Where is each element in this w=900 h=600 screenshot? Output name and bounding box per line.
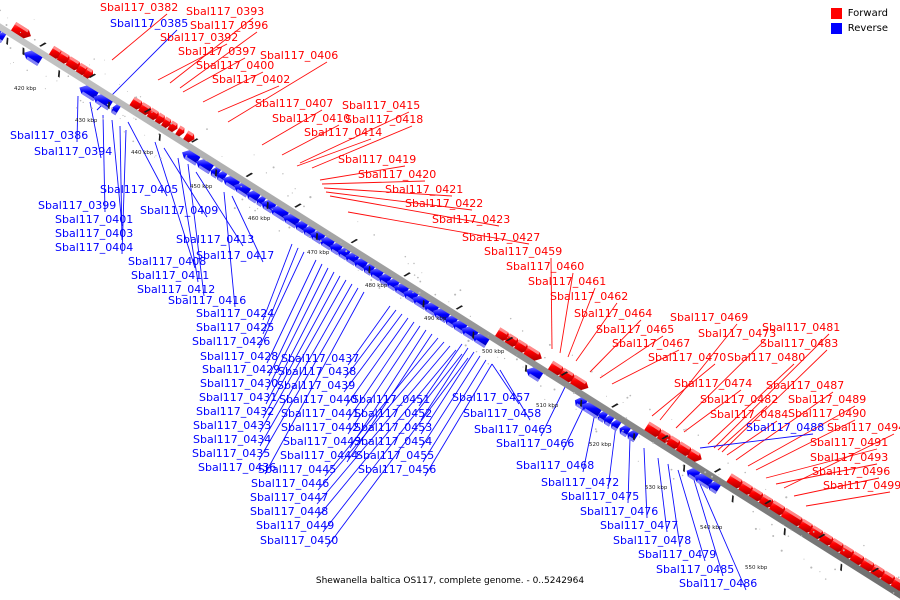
gene-label-sbal117_0493[interactable]: Sbal117_0493: [810, 452, 888, 463]
genome-diagram: 420 kbp430 kbp440 kbp450 kbp460 kbp470 k…: [0, 0, 900, 600]
gene-label-sbal117_0489[interactable]: Sbal117_0489: [788, 394, 866, 405]
axis-tick-0: 420 kbp: [14, 86, 36, 92]
gene-label-sbal117_0437[interactable]: Sbal117_0437: [281, 353, 359, 364]
gene-label-sbal117_0466[interactable]: Sbal117_0466: [496, 438, 574, 449]
legend-forward-swatch-icon: [831, 8, 842, 19]
gene-label-sbal117_0487[interactable]: Sbal117_0487: [766, 380, 844, 391]
legend-reverse: Reverse: [831, 23, 888, 34]
gene-label-sbal117_0402[interactable]: Sbal117_0402: [212, 74, 290, 85]
gene-label-sbal117_0499[interactable]: Sbal117_0499: [823, 480, 900, 491]
gene-label-sbal117_0401[interactable]: Sbal117_0401: [55, 214, 133, 225]
axis-tick-13: 550 kbp: [745, 565, 767, 571]
gene-label-sbal117_0435[interactable]: Sbal117_0435: [192, 448, 270, 459]
axis-tick-10: 520 kbp: [589, 442, 611, 448]
gene-label-sbal117_0453[interactable]: Sbal117_0453: [354, 422, 432, 433]
gene-label-sbal117_0485[interactable]: Sbal117_0485: [656, 564, 734, 575]
axis-tick-8: 500 kbp: [482, 349, 504, 355]
gene-label-sbal117_0408[interactable]: Sbal117_0408: [128, 256, 206, 267]
gene-label-sbal117_0422[interactable]: Sbal117_0422: [405, 198, 483, 209]
gene-label-sbal117_0433[interactable]: Sbal117_0433: [193, 420, 271, 431]
gene-label-sbal117_0458[interactable]: Sbal117_0458: [463, 408, 541, 419]
legend-reverse-label: Reverse: [848, 23, 888, 34]
gene-label-sbal117_0490[interactable]: Sbal117_0490: [788, 408, 866, 419]
gene-label-sbal117_0403[interactable]: Sbal117_0403: [55, 228, 133, 239]
axis-tick-5: 470 kbp: [307, 250, 329, 256]
gene-label-sbal117_0382[interactable]: Sbal117_0382: [100, 2, 178, 13]
gene-label-sbal117_0399[interactable]: Sbal117_0399: [38, 200, 116, 211]
axis-tick-11: 530 kbp: [645, 485, 667, 491]
legend-reverse-swatch-icon: [831, 23, 842, 34]
gene-label-sbal117_0405[interactable]: Sbal117_0405: [100, 184, 178, 195]
gene-label-sbal117_0431[interactable]: Sbal117_0431: [199, 392, 277, 403]
gene-label-sbal117_0449[interactable]: Sbal117_0449: [256, 520, 334, 531]
gene-label-sbal117_0461[interactable]: Sbal117_0461: [528, 276, 606, 287]
gene-label-sbal117_0482[interactable]: Sbal117_0482: [700, 394, 778, 405]
gene-label-sbal117_0418[interactable]: Sbal117_0418: [345, 114, 423, 125]
gene-label-sbal117_0491[interactable]: Sbal117_0491: [810, 437, 888, 448]
gene-label-sbal117_0463[interactable]: Sbal117_0463: [474, 424, 552, 435]
gene-label-sbal117_0446[interactable]: Sbal117_0446: [251, 478, 329, 489]
gene-label-sbal117_0430[interactable]: Sbal117_0430: [200, 378, 278, 389]
gene-label-sbal117_0459[interactable]: Sbal117_0459: [484, 246, 562, 257]
gene-label-sbal117_0467[interactable]: Sbal117_0467: [612, 338, 690, 349]
axis-tick-7: 490 kbp: [424, 316, 446, 322]
gene-label-sbal117_0432[interactable]: Sbal117_0432: [196, 406, 274, 417]
gene-label-sbal117_0481[interactable]: Sbal117_0481: [762, 322, 840, 333]
gene-label-sbal117_0420[interactable]: Sbal117_0420: [358, 169, 436, 180]
gene-label-sbal117_0438[interactable]: Sbal117_0438: [278, 366, 356, 377]
gene-label-sbal117_0385[interactable]: Sbal117_0385: [110, 18, 188, 29]
axis-tick-4: 460 kbp: [248, 216, 270, 222]
gene-label-sbal117_0407[interactable]: Sbal117_0407: [255, 98, 333, 109]
gene-label-sbal117_0444[interactable]: Sbal117_0444: [280, 450, 358, 461]
gene-label-sbal117_0425[interactable]: Sbal117_0425: [196, 322, 274, 333]
gene-label-sbal117_0468[interactable]: Sbal117_0468: [516, 460, 594, 471]
gene-label-sbal117_0427[interactable]: Sbal117_0427: [462, 232, 540, 243]
gene-label-sbal117_0409[interactable]: Sbal117_0409: [140, 205, 218, 216]
axis-tick-2: 440 kbp: [131, 150, 153, 156]
legend-forward-label: Forward: [848, 8, 888, 19]
gene-label-sbal117_0454[interactable]: Sbal117_0454: [354, 436, 432, 447]
gene-label-sbal117_0474[interactable]: Sbal117_0474: [674, 378, 752, 389]
gene-label-sbal117_0448[interactable]: Sbal117_0448: [250, 506, 328, 517]
gene-label-sbal117_0483[interactable]: Sbal117_0483: [760, 338, 838, 349]
gene-label-sbal117_0452[interactable]: Sbal117_0452: [354, 408, 432, 419]
axis-tick-3: 450 kbp: [190, 184, 212, 190]
gene-label-sbal117_0394[interactable]: Sbal117_0394: [34, 146, 112, 157]
gene-label-sbal117_0393[interactable]: Sbal117_0393: [186, 6, 264, 17]
gene-label-sbal117_0450[interactable]: Sbal117_0450: [260, 535, 338, 546]
gene-label-sbal117_0496[interactable]: Sbal117_0496: [812, 466, 890, 477]
gene-label-sbal117_0424[interactable]: Sbal117_0424: [196, 308, 274, 319]
gene-label-sbal117_0440[interactable]: Sbal117_0440: [279, 394, 357, 405]
gene-label-sbal117_0460[interactable]: Sbal117_0460: [506, 261, 584, 272]
gene-label-sbal117_0419[interactable]: Sbal117_0419: [338, 154, 416, 165]
gene-label-sbal117_0423[interactable]: Sbal117_0423: [432, 214, 510, 225]
gene-label-sbal117_0421[interactable]: Sbal117_0421: [385, 184, 463, 195]
gene-label-sbal117_0429[interactable]: Sbal117_0429: [202, 364, 280, 375]
gene-label-sbal117_0475[interactable]: Sbal117_0475: [561, 491, 639, 502]
gene-label-sbal117_0439[interactable]: Sbal117_0439: [277, 380, 355, 391]
gene-label-sbal117_0441[interactable]: Sbal117_0441: [281, 408, 359, 419]
axis-tick-1: 430 kbp: [75, 118, 97, 124]
gene-label-sbal117_0414[interactable]: Sbal117_0414: [304, 127, 382, 138]
gene-label-sbal117_0469[interactable]: Sbal117_0469: [670, 312, 748, 323]
gene-label-sbal117_0386[interactable]: Sbal117_0386: [10, 130, 88, 141]
gene-label-sbal117_0472[interactable]: Sbal117_0472: [541, 477, 619, 488]
gene-label-sbal117_0451[interactable]: Sbal117_0451: [352, 394, 430, 405]
gene-label-sbal117_0392[interactable]: Sbal117_0392: [160, 32, 238, 43]
gene-label-sbal117_0488[interactable]: Sbal117_0488: [746, 422, 824, 433]
gene-label-sbal117_0443[interactable]: Sbal117_0443: [283, 436, 361, 447]
gene-label-sbal117_0478[interactable]: Sbal117_0478: [613, 535, 691, 546]
gene-label-sbal117_0447[interactable]: Sbal117_0447: [250, 492, 328, 503]
gene-label-sbal117_0445[interactable]: Sbal117_0445: [258, 464, 336, 475]
genome-canvas: [0, 0, 900, 600]
gene-label-sbal117_0456[interactable]: Sbal117_0456: [358, 464, 436, 475]
gene-label-sbal117_0494[interactable]: Sbal117_0494: [827, 422, 900, 433]
gene-label-sbal117_0413[interactable]: Sbal117_0413: [176, 234, 254, 245]
gene-label-sbal117_0457[interactable]: Sbal117_0457: [452, 392, 530, 403]
gene-label-sbal117_0404[interactable]: Sbal117_0404: [55, 242, 133, 253]
gene-label-sbal117_0415[interactable]: Sbal117_0415: [342, 100, 420, 111]
gene-label-sbal117_0464[interactable]: Sbal117_0464: [574, 308, 652, 319]
gene-label-sbal117_0426[interactable]: Sbal117_0426: [192, 336, 270, 347]
gene-label-sbal117_0465[interactable]: Sbal117_0465: [596, 324, 674, 335]
gene-label-sbal117_0477[interactable]: Sbal117_0477: [600, 520, 678, 531]
gene-label-sbal117_0411[interactable]: Sbal117_0411: [131, 270, 209, 281]
gene-label-sbal117_0410[interactable]: Sbal117_0410: [272, 113, 350, 124]
gene-label-sbal117_0417[interactable]: Sbal117_0417: [196, 250, 274, 261]
gene-label-sbal117_0455[interactable]: Sbal117_0455: [356, 450, 434, 461]
diagram-caption: Shewanella baltica OS117, complete genom…: [0, 576, 900, 586]
gene-label-sbal117_0397[interactable]: Sbal117_0397: [178, 46, 256, 57]
gene-label-sbal117_0396[interactable]: Sbal117_0396: [190, 20, 268, 31]
gene-label-sbal117_0428[interactable]: Sbal117_0428: [200, 351, 278, 362]
gene-label-sbal117_0462[interactable]: Sbal117_0462: [550, 291, 628, 302]
legend: ForwardReverse: [831, 8, 888, 38]
gene-label-sbal117_0400[interactable]: Sbal117_0400: [196, 60, 274, 71]
gene-label-sbal117_0484[interactable]: Sbal117_0484: [710, 409, 788, 420]
gene-label-sbal117_0434[interactable]: Sbal117_0434: [193, 434, 271, 445]
gene-label-sbal117_0479[interactable]: Sbal117_0479: [638, 549, 716, 560]
legend-forward: Forward: [831, 8, 888, 19]
axis-tick-6: 480 kbp: [365, 283, 387, 289]
gene-label-sbal117_0476[interactable]: Sbal117_0476: [580, 506, 658, 517]
gene-label-sbal117_0416[interactable]: Sbal117_0416: [168, 295, 246, 306]
gene-label-sbal117_0470[interactable]: Sbal117_0470: [648, 352, 726, 363]
gene-label-sbal117_0480[interactable]: Sbal117_0480: [727, 352, 805, 363]
axis-tick-12: 540 kbp: [700, 525, 722, 531]
gene-label-sbal117_0442[interactable]: Sbal117_0442: [281, 422, 359, 433]
